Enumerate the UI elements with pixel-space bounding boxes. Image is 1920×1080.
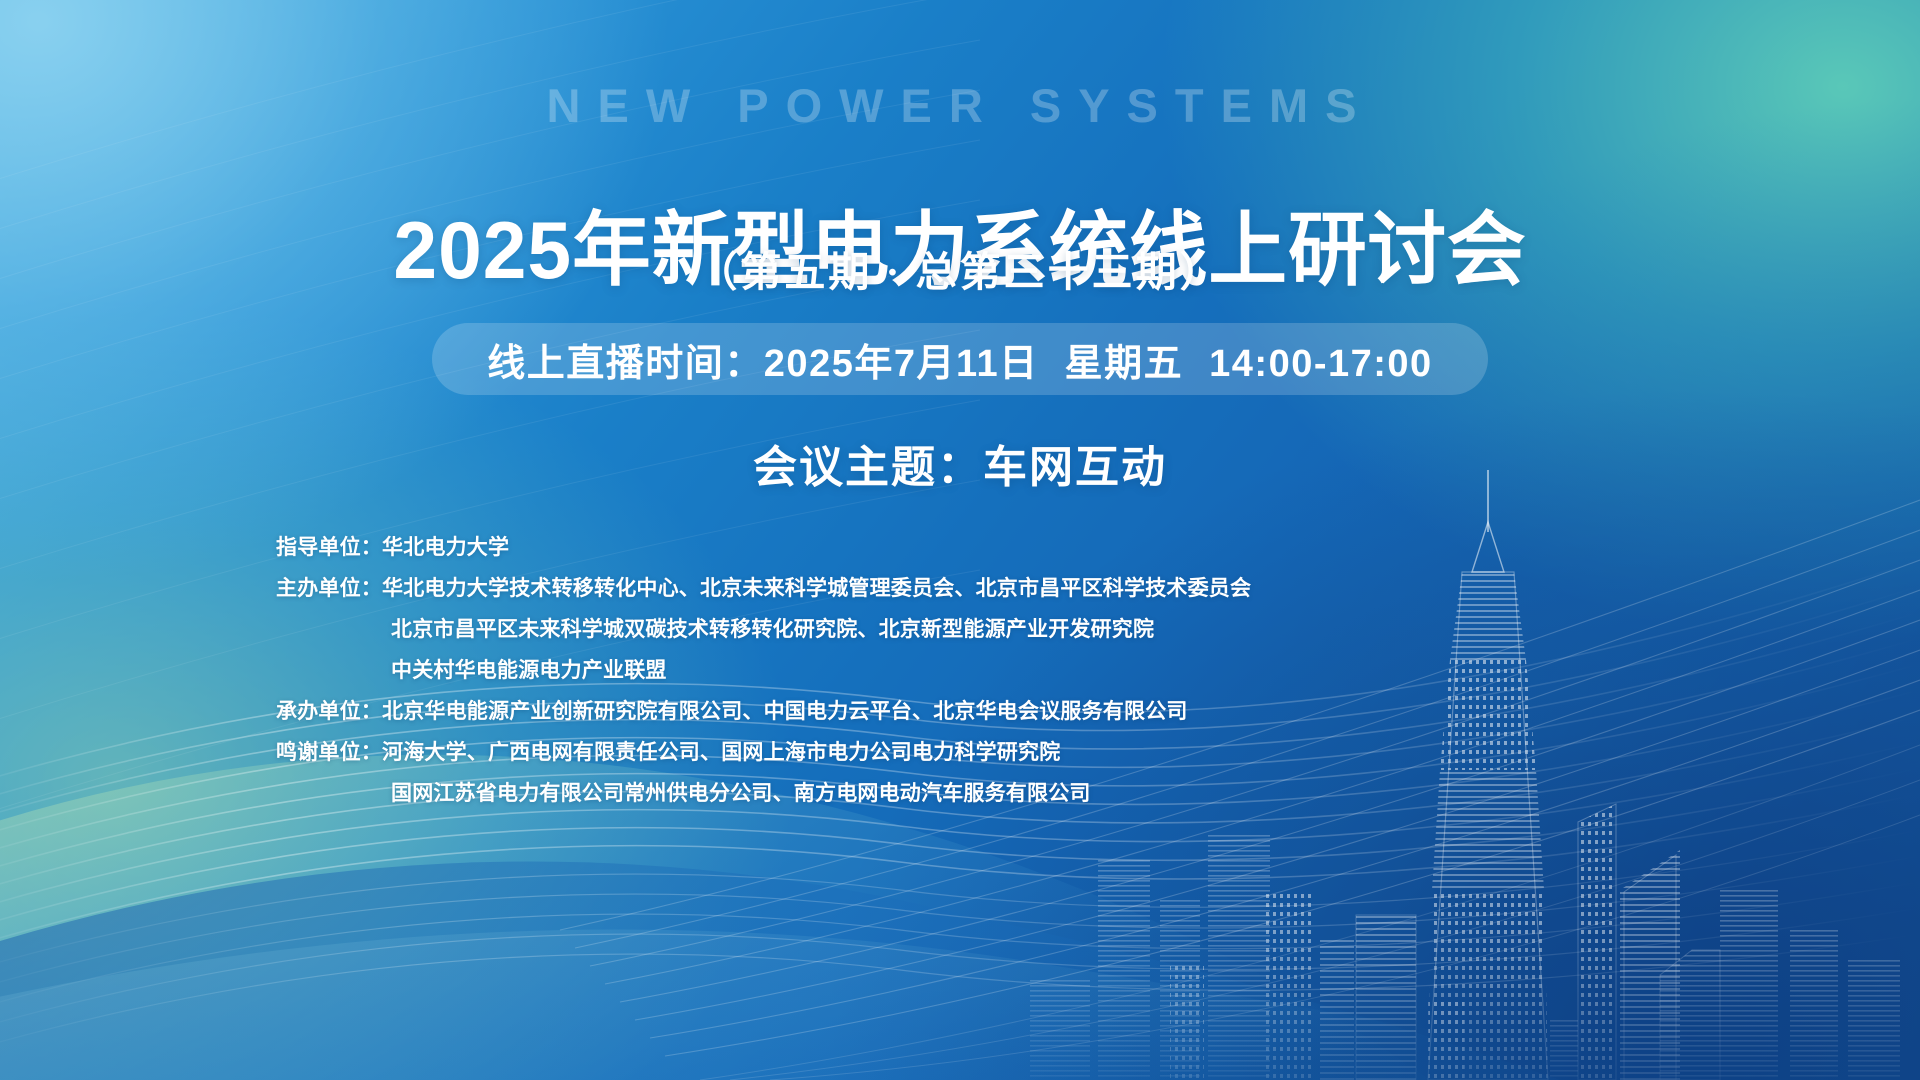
live-time-range: 14:00-17:00 — [1209, 343, 1433, 385]
meeting-theme: 会议主题：车网互动 — [0, 431, 1920, 495]
live-time-date: 2025年7月11日 — [764, 343, 1039, 385]
org-row: 指导单位：华北电力大学 — [276, 527, 1376, 568]
org-line: 华北电力大学 — [382, 536, 509, 559]
live-time-text: 线上直播时间：2025年7月11日星期五14:00-17:00 — [487, 332, 1432, 387]
org-label: 指导单位： — [276, 527, 382, 568]
webinar-poster: NEW POWER SYSTEMS 2025年新型电力系统线上研讨会 （第五期 … — [0, 0, 1920, 1080]
org-label: 鸣谢单位： — [276, 732, 382, 773]
org-line: 北京市昌平区未来科学城双碳技术转移转化研究院、北京新型能源产业开发研究院 — [391, 618, 1154, 641]
live-time-banner: 线上直播时间：2025年7月11日星期五14:00-17:00 — [432, 323, 1488, 395]
org-row: 承办单位：北京华电能源产业创新研究院有限公司、中国电力云平台、北京华电会议服务有… — [276, 691, 1376, 732]
org-line: 华北电力大学技术转移转化中心、北京未来科学城管理委员会、北京市昌平区科学技术委员… — [382, 577, 1251, 600]
org-line: 国网江苏省电力有限公司常州供电分公司、南方电网电动汽车服务有限公司 — [391, 782, 1091, 805]
org-label: 主办单位： — [276, 568, 382, 609]
org-row: 中关村华电能源电力产业联盟 — [276, 650, 1376, 691]
org-line: 中关村华电能源电力产业联盟 — [391, 659, 667, 682]
live-time-label: 线上直播时间： — [487, 343, 764, 385]
watermark-heading: NEW POWER SYSTEMS — [0, 78, 1920, 133]
org-row: 主办单位：华北电力大学技术转移转化中心、北京未来科学城管理委员会、北京市昌平区科… — [276, 568, 1376, 609]
org-row: 北京市昌平区未来科学城双碳技术转移转化研究院、北京新型能源产业开发研究院 — [276, 609, 1376, 650]
org-line: 河海大学、广西电网有限责任公司、国网上海市电力公司电力科学研究院 — [382, 741, 1060, 764]
org-row: 国网江苏省电力有限公司常州供电分公司、南方电网电动汽车服务有限公司 — [276, 773, 1376, 814]
org-line: 北京华电能源产业创新研究院有限公司、中国电力云平台、北京华电会议服务有限公司 — [382, 700, 1188, 723]
org-row: 鸣谢单位：河海大学、广西电网有限责任公司、国网上海市电力公司电力科学研究院 — [276, 732, 1376, 773]
org-label: 承办单位： — [276, 691, 382, 732]
page-subtitle: （第五期 · 总第三十三期） — [0, 238, 1920, 298]
organizations-block: 指导单位：华北电力大学 主办单位：华北电力大学技术转移转化中心、北京未来科学城管… — [276, 527, 1376, 814]
live-time-weekday: 星期五 — [1065, 343, 1184, 385]
